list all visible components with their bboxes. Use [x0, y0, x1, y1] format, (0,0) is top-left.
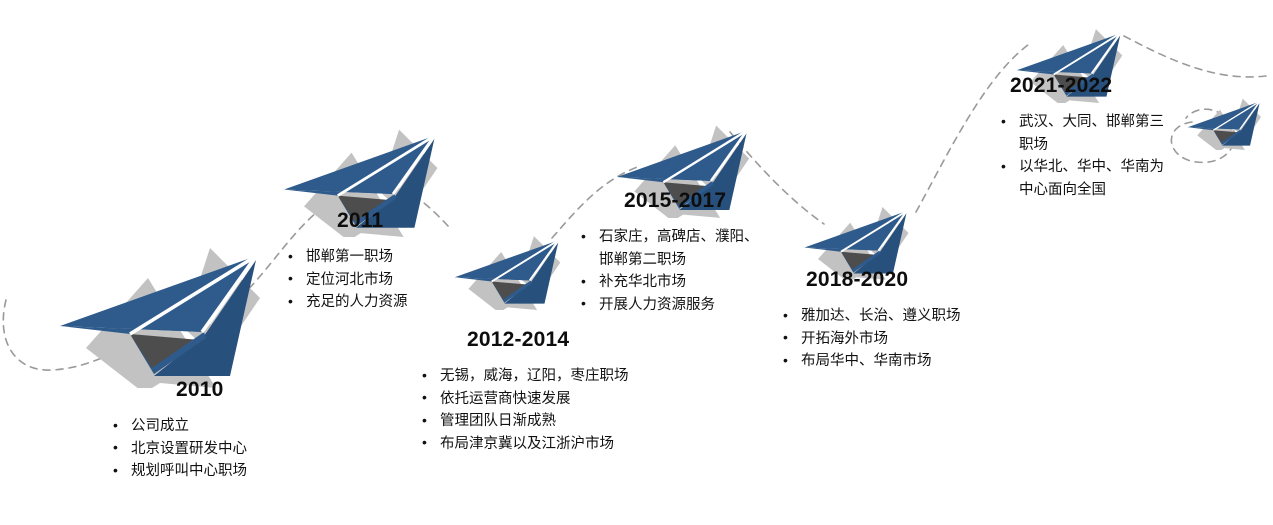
- milestone-year: 2010: [176, 378, 344, 401]
- timeline-infographic: { "theme": { "plane_blue": "#2e5b8c", "p…: [0, 0, 1273, 525]
- milestone-bullet-list: 邯郸第一职场 定位河北市场 充足的人力资源: [287, 246, 521, 313]
- milestone-2018-2020: 2018-2020 雅加达、长治、遵义职场 开拓海外市场 布局华中、华南市场: [778, 268, 1028, 373]
- milestone-year: 2012-2014: [467, 328, 705, 351]
- milestone-year: 2011: [337, 209, 521, 232]
- list-item: 雅加达、长治、遵义职场: [782, 305, 1028, 327]
- milestone-year: 2018-2020: [806, 268, 1028, 291]
- list-item: 管理团队日渐成熟: [421, 410, 705, 432]
- list-item: 公司成立: [112, 415, 344, 437]
- paper-plane-icon: [34, 208, 284, 388]
- list-item: 开拓海外市场: [782, 328, 1028, 350]
- list-item: 邯郸第一职场: [287, 246, 521, 268]
- milestone-2011: 2011 邯郸第一职场 定位河北市场 充足的人力资源: [281, 209, 521, 314]
- list-item: 无锡，威海，辽阳，枣庄职场: [421, 365, 705, 387]
- list-item: 石家庄，高碑店、濮阳、 邯郸第二职场: [580, 226, 818, 271]
- milestone-bullet-list: 公司成立 北京设置研发中心 规划呼叫中心职场: [112, 415, 344, 482]
- milestone-2021-2022: 2021-2022 武汉、大同、邯郸第三 职场 以华北、华中、华南为 中心面向全…: [1000, 74, 1200, 201]
- milestone-bullet-list: 雅加达、长治、遵义职场 开拓海外市场 布局华中、华南市场: [782, 305, 1028, 372]
- milestone-bullet-list: 武汉、大同、邯郸第三 职场 以华北、华中、华南为 中心面向全国: [1000, 111, 1200, 201]
- list-item: 武汉、大同、邯郸第三 职场: [1000, 111, 1200, 156]
- milestone-year: 2015-2017: [624, 189, 818, 212]
- list-item: 充足的人力资源: [287, 291, 521, 313]
- list-item: 规划呼叫中心职场: [112, 460, 344, 482]
- milestone-year: 2021-2022: [1010, 74, 1200, 97]
- list-item: 以华北、华中、华南为 中心面向全国: [1000, 156, 1200, 201]
- list-item: 依托运营商快速发展: [421, 388, 705, 410]
- list-item: 布局华中、华南市场: [782, 350, 1028, 372]
- list-item: 北京设置研发中心: [112, 438, 344, 460]
- milestone-bullet-list: 无锡，威海，辽阳，枣庄职场 依托运营商快速发展 管理团队日渐成熟 布局津京冀以及…: [421, 365, 705, 455]
- list-item: 布局津京冀以及江浙沪市场: [421, 433, 705, 455]
- milestone-2012-2014: 2012-2014 无锡，威海，辽阳，枣庄职场 依托运营商快速发展 管理团队日渐…: [415, 328, 705, 455]
- milestone-2010: 2010 公司成立 北京设置研发中心 规划呼叫中心职场: [104, 378, 344, 483]
- list-item: 定位河北市场: [287, 269, 521, 291]
